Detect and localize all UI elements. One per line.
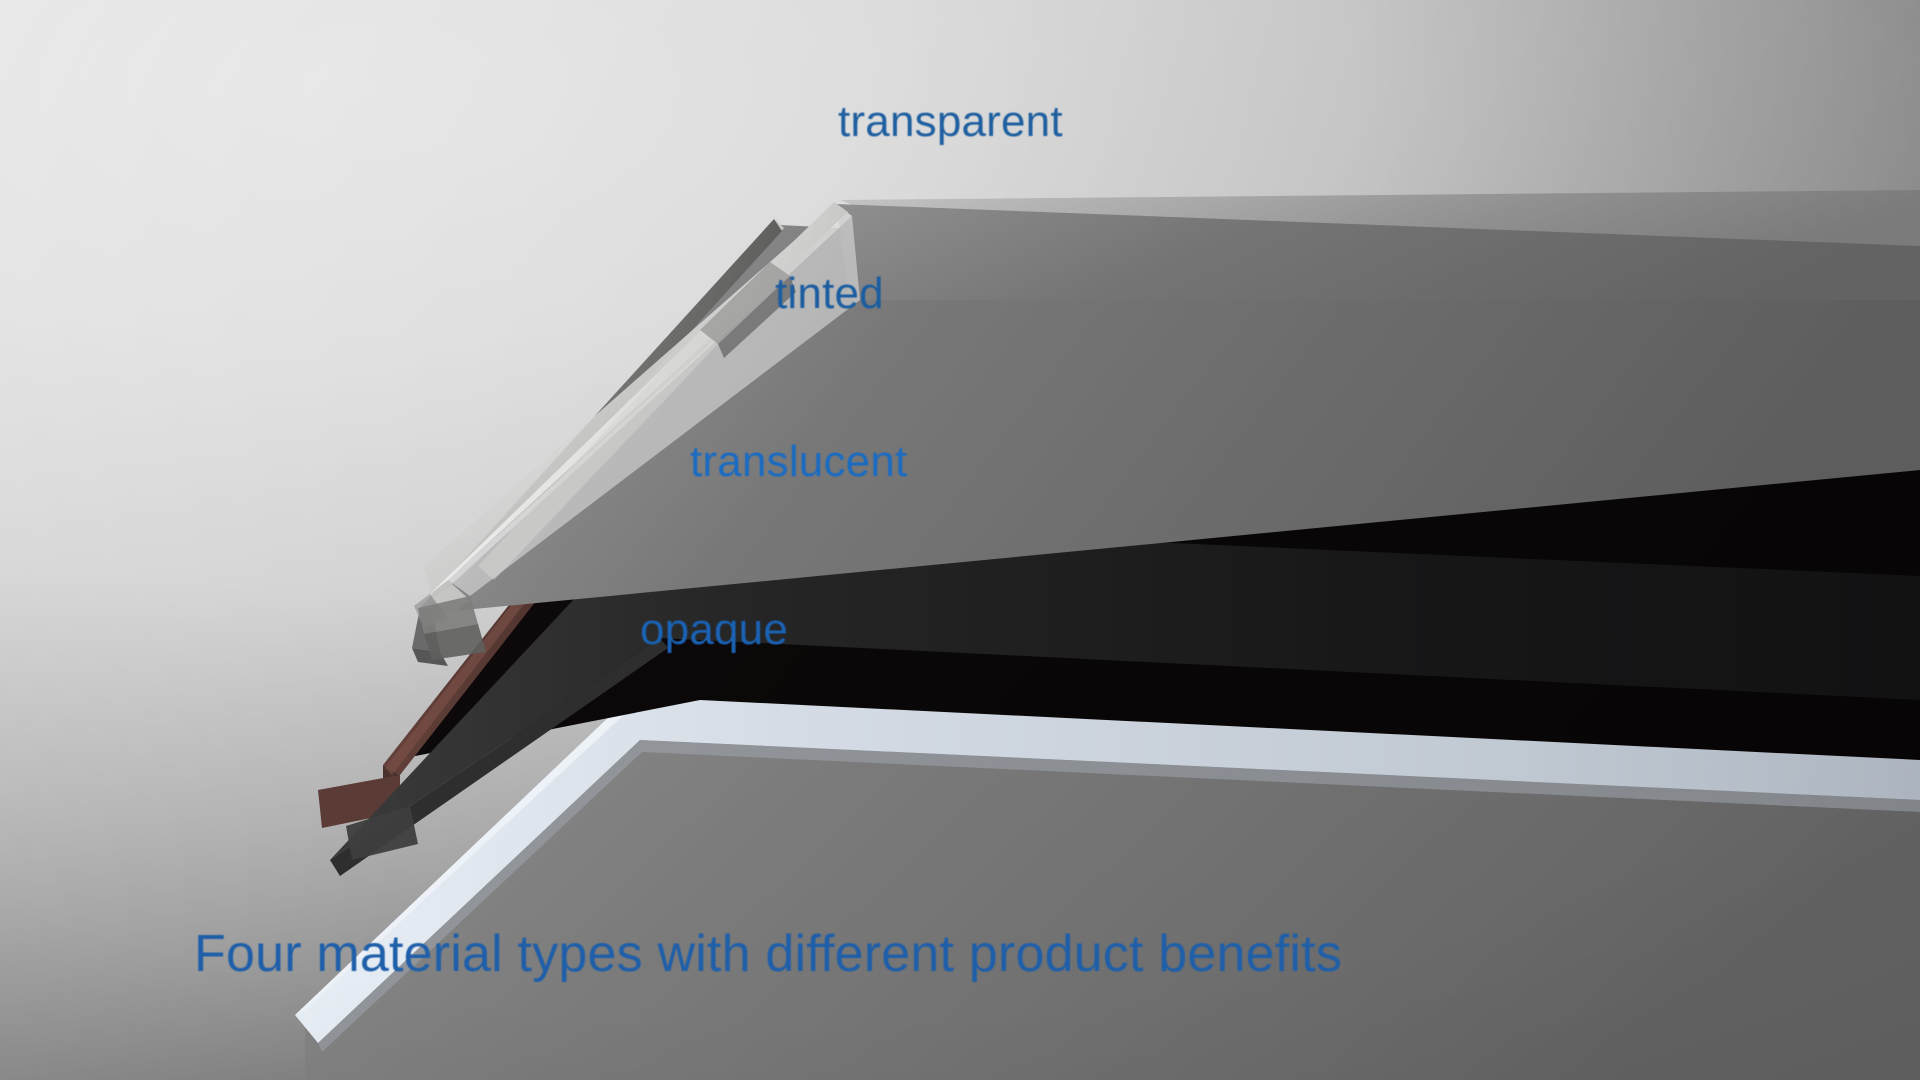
background-vignette <box>0 0 1920 1080</box>
scene-root: transparent tinted translucent opaque Fo… <box>0 0 1920 1080</box>
